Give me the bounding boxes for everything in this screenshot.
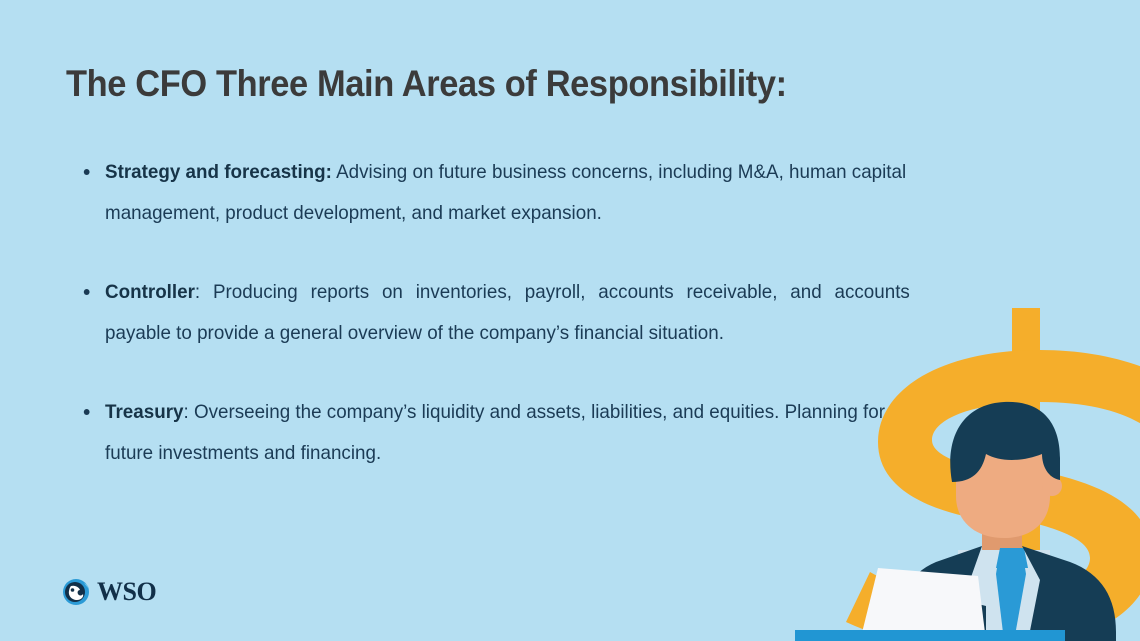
tie-knot-shape	[996, 548, 1028, 568]
list-item-paragraph: Controller: Producing reports on invento…	[105, 272, 910, 353]
page-title: The CFO Three Main Areas of Responsibili…	[66, 61, 903, 107]
ear-shape	[1042, 476, 1062, 496]
list-item-paragraph: Treasury: Overseeing the company’s liqui…	[105, 392, 910, 473]
bullet-dot-icon	[84, 289, 90, 295]
slide-canvas: The CFO Three Main Areas of Responsibili…	[0, 0, 1140, 641]
wso-logo[interactable]: WSO	[62, 578, 156, 606]
neck-shape	[982, 504, 1022, 550]
list-item-lead: Controller	[105, 281, 195, 303]
hair-shape	[950, 402, 1060, 482]
list-item-body: : Producing reports on inventories, payr…	[105, 281, 910, 344]
jacket-left-shape	[896, 546, 988, 641]
list-item: Treasury: Overseeing the company’s liqui…	[78, 392, 910, 473]
list-item-lead: Treasury	[105, 401, 183, 423]
bullet-dot-icon	[84, 169, 90, 175]
dollar-sign-stroke-icon	[1012, 308, 1040, 638]
logo-text: WSO	[97, 579, 156, 605]
desk-bar	[795, 630, 1065, 641]
list-item-paragraph: Strategy and forecasting: Advising on fu…	[105, 152, 910, 233]
list-item-body: : Overseeing the company’s liquidity and…	[105, 401, 885, 464]
shirt-shape	[958, 550, 1050, 641]
bullet-dot-icon	[84, 409, 90, 415]
list-item: Controller: Producing reports on invento…	[78, 272, 910, 353]
globe-icon	[62, 578, 90, 606]
list-item-lead: Strategy and forecasting:	[105, 161, 332, 183]
responsibility-list: Strategy and forecasting: Advising on fu…	[78, 152, 940, 473]
tie-shape	[996, 550, 1026, 641]
head-shape	[956, 410, 1050, 538]
list-item: Strategy and forecasting: Advising on fu…	[78, 152, 910, 233]
dollar-sign-lower-bowl-icon	[846, 466, 1140, 641]
jacket-right-shape	[1022, 546, 1116, 641]
